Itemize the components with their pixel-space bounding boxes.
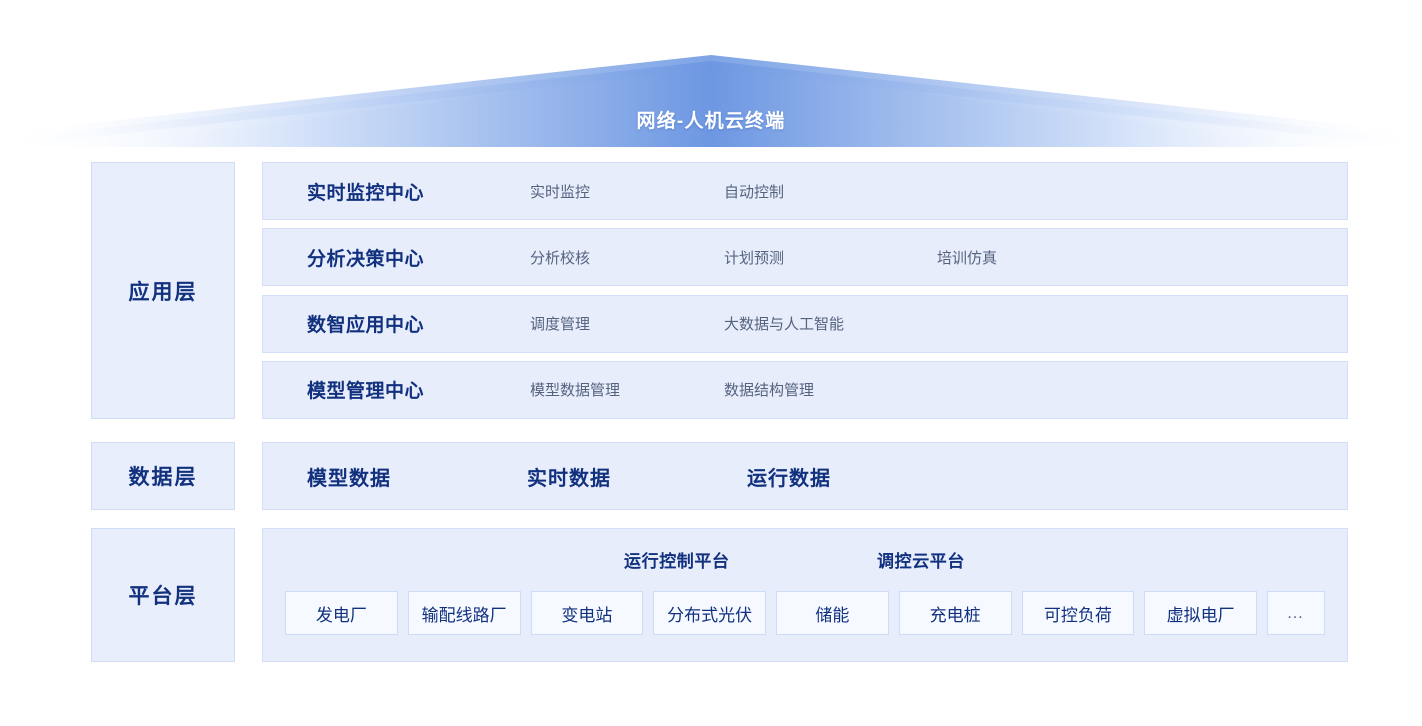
application-sub-item[interactable]: 调度管理 bbox=[530, 313, 590, 334]
layer-label-application: 应用层 bbox=[91, 162, 235, 419]
platform-panel: 运行控制平台 调控云平台 发电厂 输配线路厂 变电站 分布式光伏 储能 充电桩 … bbox=[262, 528, 1348, 662]
application-sub-item[interactable]: 实时监控 bbox=[530, 181, 590, 202]
application-row[interactable]: 数智应用中心 调度管理 大数据与人工智能 bbox=[262, 295, 1348, 353]
application-sub-item[interactable]: 计划预测 bbox=[724, 247, 784, 268]
application-sub-item[interactable]: 模型数据管理 bbox=[530, 379, 620, 400]
application-sub-item[interactable]: 培训仿真 bbox=[937, 247, 997, 268]
data-layer-item[interactable]: 运行数据 bbox=[747, 462, 831, 491]
application-sub-item[interactable]: 数据结构管理 bbox=[724, 379, 814, 400]
platform-chip[interactable]: 输配线路厂 bbox=[408, 591, 521, 635]
data-layer-body: 模型数据 实时数据 运行数据 bbox=[262, 442, 1348, 510]
application-row-title: 数智应用中心 bbox=[307, 310, 424, 337]
platform-chip[interactable]: 可控负荷 bbox=[1022, 591, 1135, 635]
application-row[interactable]: 模型管理中心 模型数据管理 数据结构管理 bbox=[262, 361, 1348, 419]
application-sub-item[interactable]: 自动控制 bbox=[724, 181, 784, 202]
application-row[interactable]: 实时监控中心 实时监控 自动控制 bbox=[262, 162, 1348, 220]
platform-headings: 运行控制平台 调控云平台 bbox=[263, 547, 1347, 569]
application-row-title: 实时监控中心 bbox=[307, 178, 424, 205]
roof-banner: 网络-人机云终端 bbox=[0, 55, 1422, 147]
platform-heading[interactable]: 调控云平台 bbox=[877, 547, 965, 572]
platform-chip-more[interactable]: … bbox=[1267, 591, 1325, 635]
application-rows: 实时监控中心 实时监控 自动控制 分析决策中心 分析校核 计划预测 培训仿真 数… bbox=[262, 162, 1348, 419]
platform-layer-body: 运行控制平台 调控云平台 发电厂 输配线路厂 变电站 分布式光伏 储能 充电桩 … bbox=[262, 528, 1348, 662]
platform-chip[interactable]: 虚拟电厂 bbox=[1144, 591, 1257, 635]
platform-heading[interactable]: 运行控制平台 bbox=[624, 547, 730, 572]
data-layer-item[interactable]: 模型数据 bbox=[307, 462, 391, 491]
application-row-title: 模型管理中心 bbox=[307, 376, 424, 403]
layer-label-data: 数据层 bbox=[91, 442, 235, 510]
layer-data: 数据层 模型数据 实时数据 运行数据 bbox=[91, 442, 1348, 510]
platform-chip[interactable]: 充电桩 bbox=[899, 591, 1012, 635]
platform-chip[interactable]: 分布式光伏 bbox=[653, 591, 766, 635]
application-sub-item[interactable]: 大数据与人工智能 bbox=[724, 313, 844, 334]
layer-platform: 平台层 运行控制平台 调控云平台 发电厂 输配线路厂 变电站 分布式光伏 储能 … bbox=[91, 528, 1348, 662]
platform-chip[interactable]: 变电站 bbox=[531, 591, 644, 635]
roof-shape bbox=[0, 55, 1422, 147]
platform-chip-row: 发电厂 输配线路厂 变电站 分布式光伏 储能 充电桩 可控负荷 虚拟电厂 … bbox=[285, 591, 1325, 635]
platform-chip[interactable]: 储能 bbox=[776, 591, 889, 635]
architecture-diagram: 网络-人机云终端 应用层 实时监控中心 实时监控 自动控制 分析决策中心 分析校… bbox=[0, 0, 1422, 726]
application-row-title: 分析决策中心 bbox=[307, 244, 424, 271]
data-layer-bar[interactable]: 模型数据 实时数据 运行数据 bbox=[262, 442, 1348, 510]
data-layer-item[interactable]: 实时数据 bbox=[527, 462, 611, 491]
layer-label-platform: 平台层 bbox=[91, 528, 235, 662]
layer-application: 应用层 实时监控中心 实时监控 自动控制 分析决策中心 分析校核 计划预测 培训… bbox=[91, 162, 1348, 419]
application-row[interactable]: 分析决策中心 分析校核 计划预测 培训仿真 bbox=[262, 228, 1348, 286]
application-sub-item[interactable]: 分析校核 bbox=[530, 247, 590, 268]
platform-chip[interactable]: 发电厂 bbox=[285, 591, 398, 635]
